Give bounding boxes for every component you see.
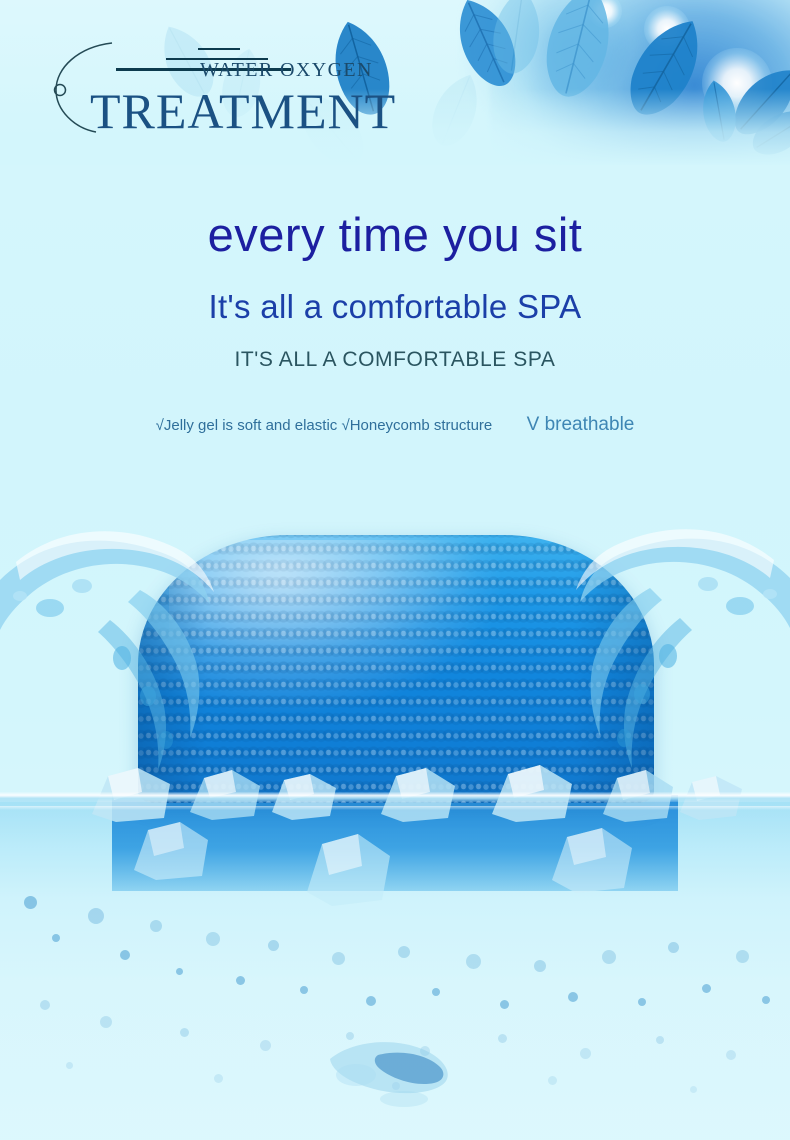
cushion-left-shading [138,535,208,803]
light-spark [588,0,622,28]
cushion-right-shading [574,535,654,803]
headline-primary: every time you sit [0,207,790,262]
blue-glow-panel-secondary [460,0,670,130]
logo-rule-top [198,48,240,50]
leaf-icon [417,63,495,157]
leaf-icon [741,93,790,165]
light-spark [644,6,690,52]
feature-item-3: V breathable [527,414,635,435]
check-mark-icon: √ [341,417,349,434]
feature-label-3: breathable [545,414,635,435]
leaf-icon [716,50,790,151]
blue-glow-panel [490,0,790,165]
feature-label-1: Jelly gel is soft and elastic [164,417,337,434]
gel-cushion-product [138,535,654,803]
bottom-ice-fragment [300,1015,490,1110]
brand-logo: WATER OXYGEN TREATMENT [48,34,398,138]
feature-list: √Jelly gel is soft and elastic √Honeycom… [0,414,790,436]
feature-label-2: Honeycomb structure [350,417,493,434]
leaf-icon [482,0,552,80]
leaf-icon [607,1,724,132]
product-scene [0,470,790,1140]
headline-tertiary: IT'S ALL A COMFORTABLE SPA [0,348,790,372]
cushion-highlight [169,540,479,653]
v-mark-icon: V [527,414,540,435]
brand-tagline: WATER OXYGEN [200,59,373,82]
leaf-icon [438,0,534,98]
product-marketing-poster: WATER OXYGEN TREATMENT every time you si… [0,0,790,1140]
feature-item-2: √Honeycomb structure [341,417,492,434]
leaf-icon [692,75,747,148]
leaf-icon [527,0,631,108]
feature-item-1: √Jelly gel is soft and elastic [156,417,338,434]
light-spark [702,48,772,118]
headline-secondary: It's all a comfortable SPA [0,288,790,326]
check-mark-icon: √ [156,417,164,434]
brand-name: TREATMENT [90,82,396,140]
